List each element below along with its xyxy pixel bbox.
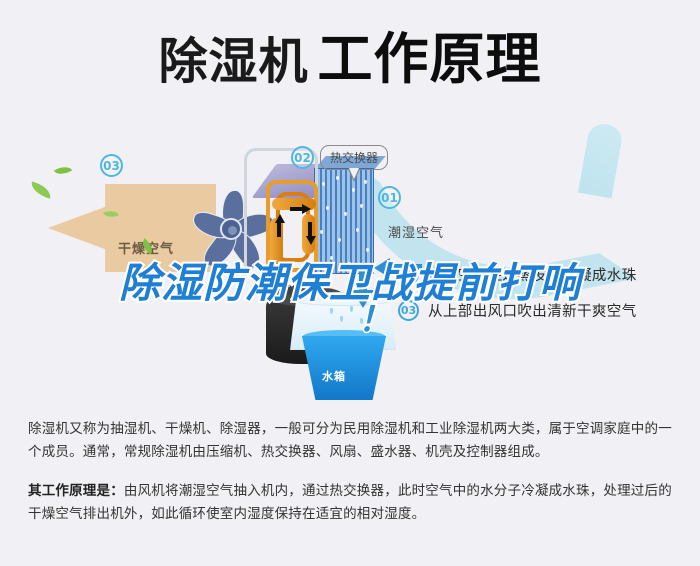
- flow-arrow-down-stem: [308, 222, 312, 236]
- diagram-badge-03: 03: [100, 154, 123, 177]
- title-part-2: 工作原理: [318, 32, 542, 87]
- step-text: 从上部出风口吹出清新干爽空气: [428, 300, 637, 321]
- step-number-badge: 03: [398, 300, 419, 321]
- page-title: 除湿机 工作原理: [158, 32, 541, 87]
- paragraph-1: 除湿机又称为抽湿机、干燥机、除湿器，一般可分为民用除湿机和工业除湿机两大类，属于…: [28, 418, 678, 464]
- flow-arrow-up-icon: [275, 214, 285, 223]
- copper-coil-assembly: [262, 174, 326, 282]
- paragraph-2: 其工作原理是：由风机将潮湿空气抽入机内，通过热交换器，此时空气中的水分子冷凝成水…: [28, 480, 678, 526]
- heat-exchanger-callout: 热交换器: [320, 145, 388, 170]
- humid-air-label: 潮湿空气: [388, 222, 444, 241]
- diagram-badge-01: 01: [378, 186, 401, 209]
- step-number-badge: 02: [398, 264, 419, 285]
- step-text: 潮湿空气经过蒸发器冷凝成水珠: [428, 264, 637, 285]
- list-item: 02 潮湿空气经过蒸发器冷凝成水珠: [398, 256, 698, 292]
- water-tank-label: 水箱: [322, 368, 346, 384]
- page-root: 除湿机 工作原理 干燥空气 03: [0, 0, 700, 566]
- intake-arrow-icon: [374, 258, 390, 278]
- list-item: 03 从上部出风口吹出清新干爽空气: [398, 292, 698, 328]
- dehumidifier-machine: 压缩机 水箱: [244, 140, 424, 402]
- flow-arrow-down-icon: [306, 236, 316, 245]
- leaf-icon: [54, 163, 72, 179]
- fan-hub: [220, 218, 242, 240]
- flow-arrow-right-stem: [290, 207, 303, 211]
- paragraph-2-lead: 其工作原理是：: [28, 483, 124, 499]
- steps-list: 02 潮湿空气经过蒸发器冷凝成水珠 03 从上部出风口吹出清新干爽空气: [398, 256, 698, 328]
- body-copy: 除湿机又称为抽湿机、干燥机、除湿器，一般可分为民用除湿机和工业除湿机两大类，属于…: [28, 418, 678, 526]
- title-part-1: 除湿机: [158, 37, 308, 86]
- diagram-badge-02: 02: [291, 146, 314, 169]
- leaf-icon: [29, 181, 53, 198]
- flow-arrow-up-stem: [277, 223, 281, 237]
- paragraph-2-text: 由风机将潮湿空气抽入机内，通过热交换器，此时空气中的水分子冷凝成水珠，处理过后的…: [28, 483, 672, 522]
- flow-arrow-right-icon: [302, 204, 311, 214]
- page-header: 除湿机 工作原理: [0, 0, 700, 118]
- overlay-exclamation: ！: [358, 292, 392, 341]
